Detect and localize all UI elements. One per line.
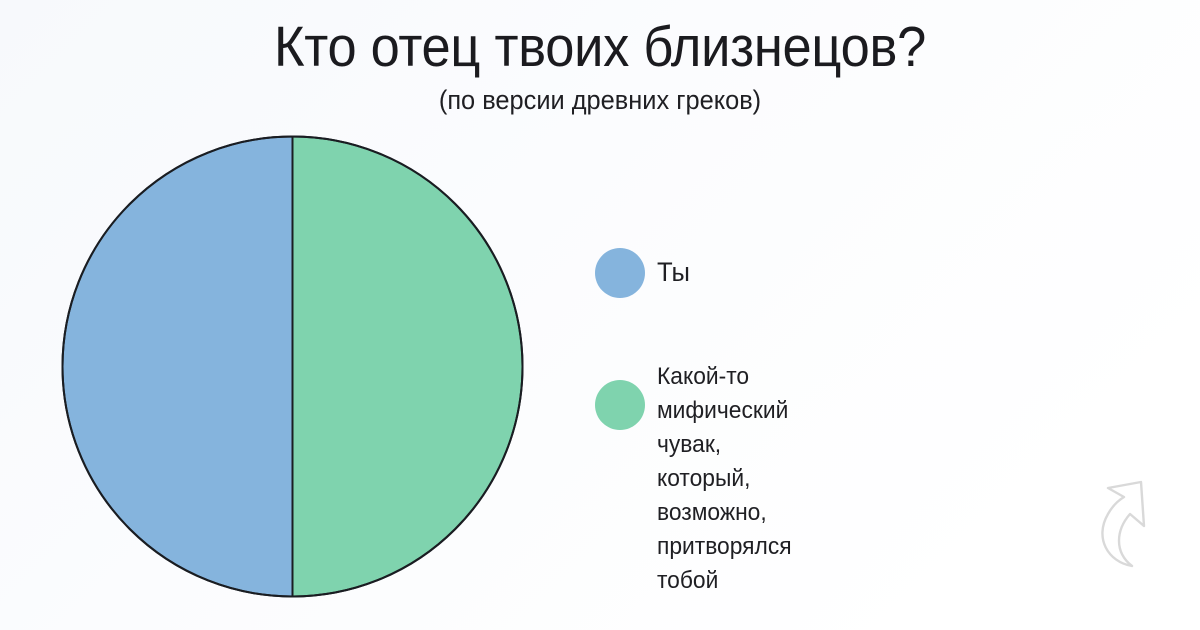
curved-arrow-watermark — [1086, 474, 1186, 584]
pie-slice-mythical-dude[interactable] — [293, 137, 523, 597]
pie-chart — [61, 135, 524, 598]
legend-label-mythical-dude: Какой-то мифический чувак, который, возм… — [657, 360, 792, 598]
pie-chart-svg — [61, 135, 524, 598]
heading-block: Кто отец твоих близнецов? (по версии дре… — [0, 14, 1200, 116]
curved-arrow-up-right-icon — [1086, 474, 1186, 584]
pie-slice-you[interactable] — [62, 137, 292, 597]
legend-swatch-you — [595, 248, 645, 298]
legend-label-you: Ты — [657, 256, 690, 289]
page-subtitle: (по версии древних греков) — [36, 84, 1164, 116]
page-title: Кто отец твоих близнецов? — [48, 14, 1152, 80]
legend-swatch-mythical-dude — [595, 380, 645, 430]
poster-canvas: Кто отец твоих близнецов? (по версии дре… — [0, 0, 1200, 630]
